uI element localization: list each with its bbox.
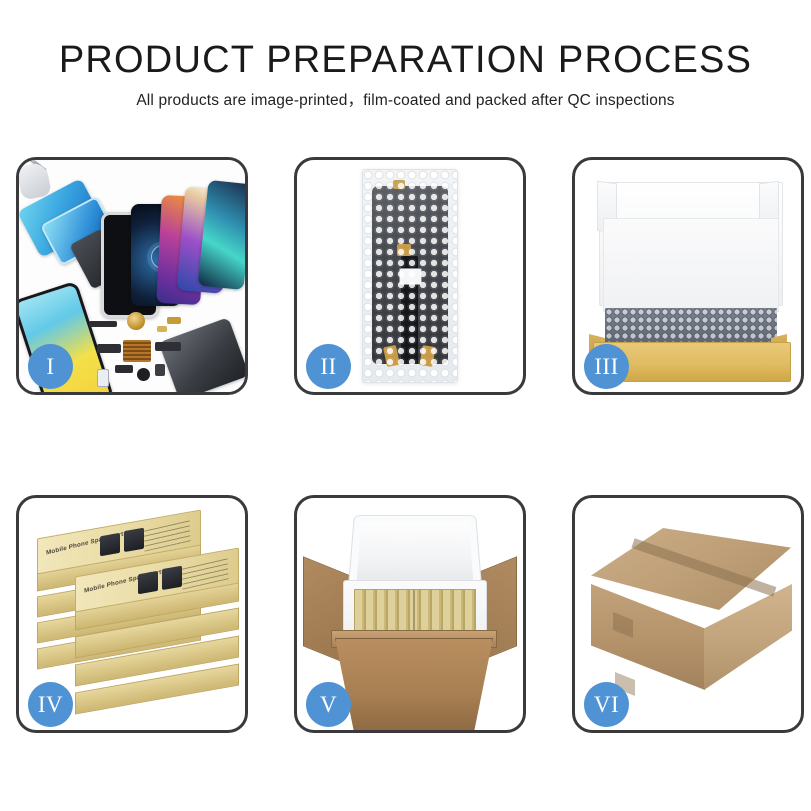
process-step-panel-4: Mobile Phone Spare Parts Mobile Phone Sp… xyxy=(16,495,248,733)
gold-contact-icon xyxy=(397,244,411,256)
process-step-panel-2: II xyxy=(294,157,526,395)
phone-back-shell-icon xyxy=(159,317,245,392)
step-badge-5: V xyxy=(306,682,351,727)
bubble-wrap-bag-icon xyxy=(362,169,458,383)
step-badge-2: II xyxy=(306,344,351,389)
spec-text-lines xyxy=(143,517,190,551)
connector-icon xyxy=(399,268,422,285)
page-root: PRODUCT PREPARATION PROCESS All products… xyxy=(0,0,811,811)
screen-photo-icon xyxy=(138,571,158,595)
carton-body-icon xyxy=(335,638,493,730)
gold-connector-icon xyxy=(157,326,167,332)
gold-connector-icon xyxy=(167,317,181,324)
camera-module-icon xyxy=(137,368,150,381)
spec-text-lines xyxy=(181,555,228,589)
process-step-panel-1: I xyxy=(16,157,248,395)
screen-photo-icon xyxy=(162,566,182,591)
vibration-motor-icon xyxy=(127,312,145,330)
foam-lid-icon xyxy=(348,515,482,588)
earpiece-speaker-icon xyxy=(89,321,117,327)
step-badge-4: IV xyxy=(28,682,73,727)
step-badge-6: VI xyxy=(584,682,629,727)
bubble-wrap-padding-icon xyxy=(605,308,777,346)
screen-photo-icon xyxy=(124,528,144,553)
gold-contact-icon xyxy=(393,180,405,189)
process-step-panel-5: V xyxy=(294,495,526,733)
chip-icon xyxy=(115,365,133,373)
process-step-grid: I II xyxy=(16,157,804,733)
sim-tray-icon xyxy=(97,369,109,387)
screen-photo-icon xyxy=(100,533,120,557)
process-step-panel-6: VI xyxy=(572,495,804,733)
chip-icon xyxy=(155,364,165,376)
step-badge-3: III xyxy=(584,344,629,389)
process-step-panel-3: III xyxy=(572,157,804,395)
page-header: PRODUCT PREPARATION PROCESS All products… xyxy=(0,36,811,111)
page-subtitle: All products are image-printed，film-coat… xyxy=(0,91,811,111)
box-interior-icon xyxy=(603,218,779,312)
logic-board-icon xyxy=(123,340,151,362)
page-title: PRODUCT PREPARATION PROCESS xyxy=(0,36,811,84)
step-badge-1: I xyxy=(28,344,73,389)
flex-cable-icon xyxy=(97,344,121,353)
flex-cable-icon xyxy=(155,342,181,351)
